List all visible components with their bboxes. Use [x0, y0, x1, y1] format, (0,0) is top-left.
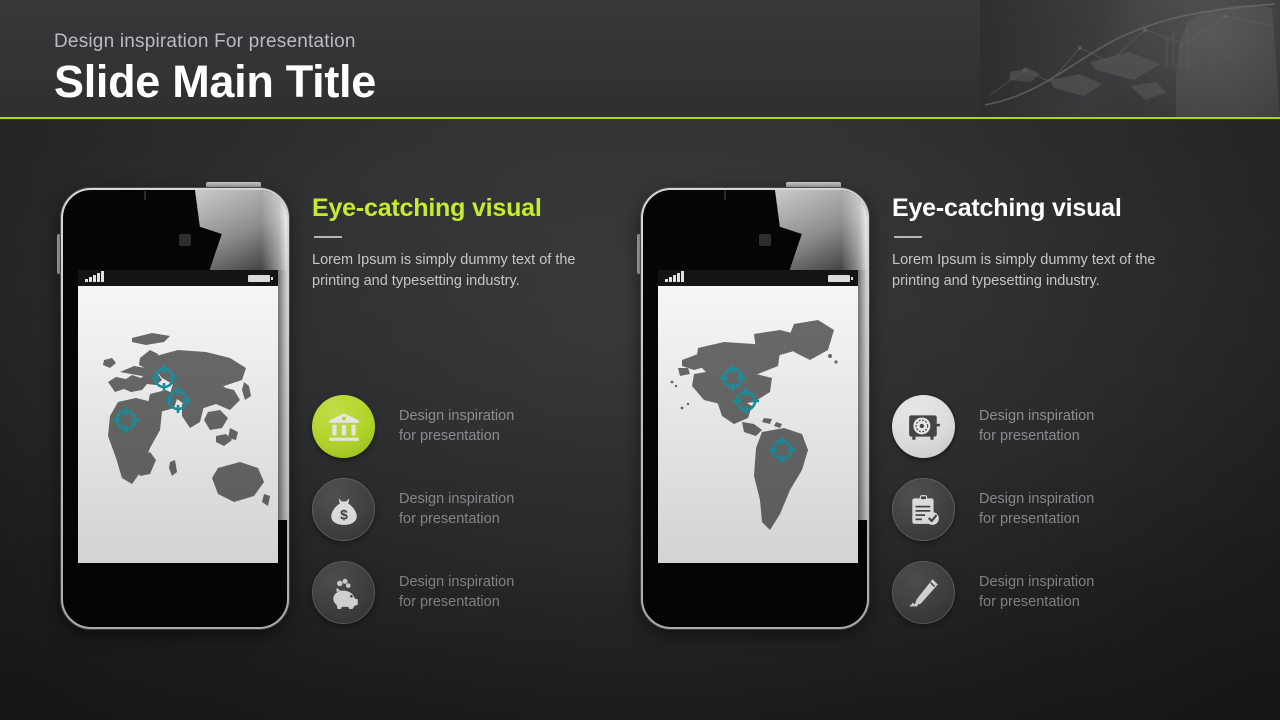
phone-body [61, 188, 289, 629]
label-line-2: for presentation [979, 427, 1094, 447]
column-heading-left: Eye-catching visual [312, 192, 622, 226]
slide-header: Design inspiration For presentation Slid… [0, 0, 1280, 120]
list-item-label: Design inspiration for presentation [399, 490, 514, 529]
money-bag-icon[interactable]: $ [312, 478, 375, 541]
label-line-2: for presentation [399, 510, 514, 530]
slide-canvas: Design inspiration For presentation Slid… [0, 0, 1280, 720]
text-pane-left: Eye-catching visual Lorem Ipsum is simpl… [312, 192, 622, 292]
header-accent-rule [0, 117, 1280, 119]
column-body-right: Lorem Ipsum is simply dummy text of the … [892, 250, 1202, 292]
phone-body [641, 188, 869, 629]
earpiece-speaker-icon [144, 191, 146, 200]
map-eastern-hemisphere[interactable] [78, 286, 278, 563]
phone-screen-right[interactable] [658, 270, 858, 563]
signal-strength-icon [665, 271, 684, 282]
clipboard-check-icon[interactable] [892, 478, 955, 541]
label-line-2: for presentation [979, 510, 1094, 530]
label-line-1: Design inspiration [399, 490, 514, 510]
list-item-label: Design inspiration for presentation [979, 407, 1094, 446]
column-heading-right: Eye-catching visual [892, 192, 1202, 226]
label-line-1: Design inspiration [979, 407, 1094, 427]
list-item-label: Design inspiration for presentation [399, 573, 514, 612]
label-line-2: for presentation [399, 593, 514, 613]
list-item[interactable]: Design inspiration for presentation [312, 385, 632, 468]
label-line-1: Design inspiration [979, 573, 1094, 593]
list-item-label: Design inspiration for presentation [979, 490, 1094, 529]
label-line-2: for presentation [399, 427, 514, 447]
status-bar [658, 270, 858, 286]
battery-icon [248, 275, 270, 282]
header-background-photo [980, 0, 1280, 118]
phone-mockup-left [61, 182, 289, 629]
signal-strength-icon [85, 271, 104, 282]
safe-vault-icon[interactable] [892, 395, 955, 458]
content-column-left: Eye-catching visual Lorem Ipsum is simpl… [40, 170, 640, 650]
svg-text:$: $ [340, 506, 348, 522]
phone-mockup-right [641, 182, 869, 629]
status-bar [78, 270, 278, 286]
list-item[interactable]: $ Design inspiration for presentation [312, 468, 632, 551]
column-body-left: Lorem Ipsum is simply dummy text of the … [312, 250, 622, 292]
map-western-hemisphere[interactable] [658, 286, 858, 563]
text-pane-right: Eye-catching visual Lorem Ipsum is simpl… [892, 192, 1202, 292]
list-item[interactable]: Design inspiration for presentation [892, 551, 1212, 634]
list-item[interactable]: Design inspiration for presentation [312, 551, 632, 634]
label-line-1: Design inspiration [399, 573, 514, 593]
list-item-label: Design inspiration for presentation [979, 573, 1094, 612]
list-item-label: Design inspiration for presentation [399, 407, 514, 446]
front-camera-icon [179, 234, 191, 246]
icon-list-right: Design inspiration for presentation [892, 385, 1212, 634]
header-subtitle: Design inspiration For presentation [54, 31, 356, 53]
piggy-bank-icon[interactable] [312, 561, 375, 624]
icon-list-left: Design inspiration for presentation $ De… [312, 385, 632, 634]
earpiece-speaker-icon [724, 191, 726, 200]
front-camera-icon [759, 234, 771, 246]
list-item[interactable]: Design inspiration for presentation [892, 385, 1212, 468]
bank-icon[interactable] [312, 395, 375, 458]
list-item[interactable]: Design inspiration for presentation [892, 468, 1212, 551]
pen-icon[interactable] [892, 561, 955, 624]
label-line-1: Design inspiration [979, 490, 1094, 510]
battery-icon [828, 275, 850, 282]
label-line-1: Design inspiration [399, 407, 514, 427]
heading-divider [894, 236, 922, 238]
page-title: Slide Main Title [54, 56, 376, 108]
phone-screen-left[interactable] [78, 270, 278, 563]
heading-divider [314, 236, 342, 238]
label-line-2: for presentation [979, 593, 1094, 613]
content-column-right: Eye-catching visual Lorem Ipsum is simpl… [620, 170, 1220, 650]
